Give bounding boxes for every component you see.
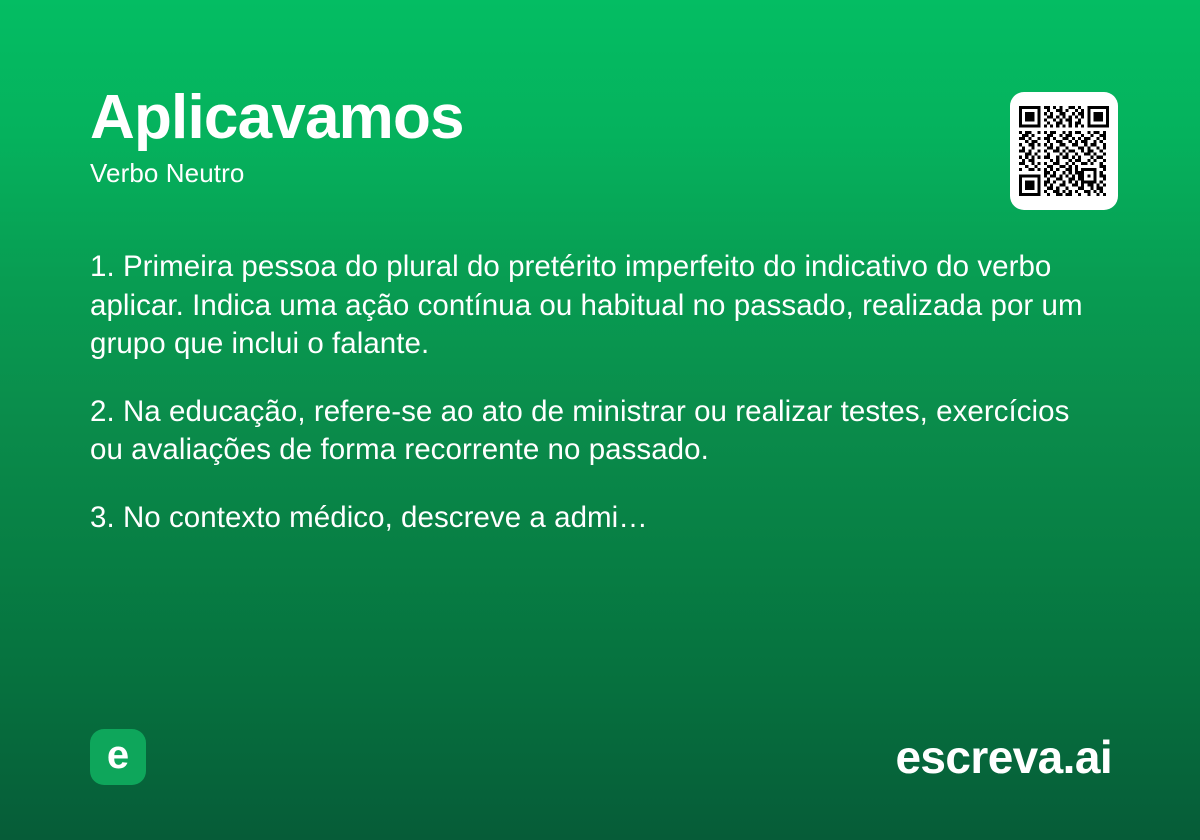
page-title: Aplicavamos <box>90 86 1110 149</box>
definition-card: Aplicavamos Verbo Neutro <box>0 0 1200 840</box>
card-footer: e escreva.ai <box>90 728 1112 786</box>
brand-wordmark: escreva.ai <box>895 734 1112 780</box>
card-header: Aplicavamos Verbo Neutro <box>90 86 1110 216</box>
word-class-subtitle: Verbo Neutro <box>90 159 1110 189</box>
qr-code-container[interactable] <box>1010 92 1118 210</box>
qr-code-icon <box>1019 106 1109 196</box>
brand-logo-badge: e <box>90 729 146 785</box>
definition-item: 3. No contexto médico, descreve a admi… <box>90 499 1095 538</box>
brand-logo-letter: e <box>107 735 129 775</box>
definition-item: 1. Primeira pessoa do plural do pretérit… <box>90 248 1095 364</box>
definition-item: 2. Na educação, refere-se ao ato de mini… <box>90 393 1095 470</box>
definition-list: 1. Primeira pessoa do plural do pretérit… <box>90 248 1095 537</box>
